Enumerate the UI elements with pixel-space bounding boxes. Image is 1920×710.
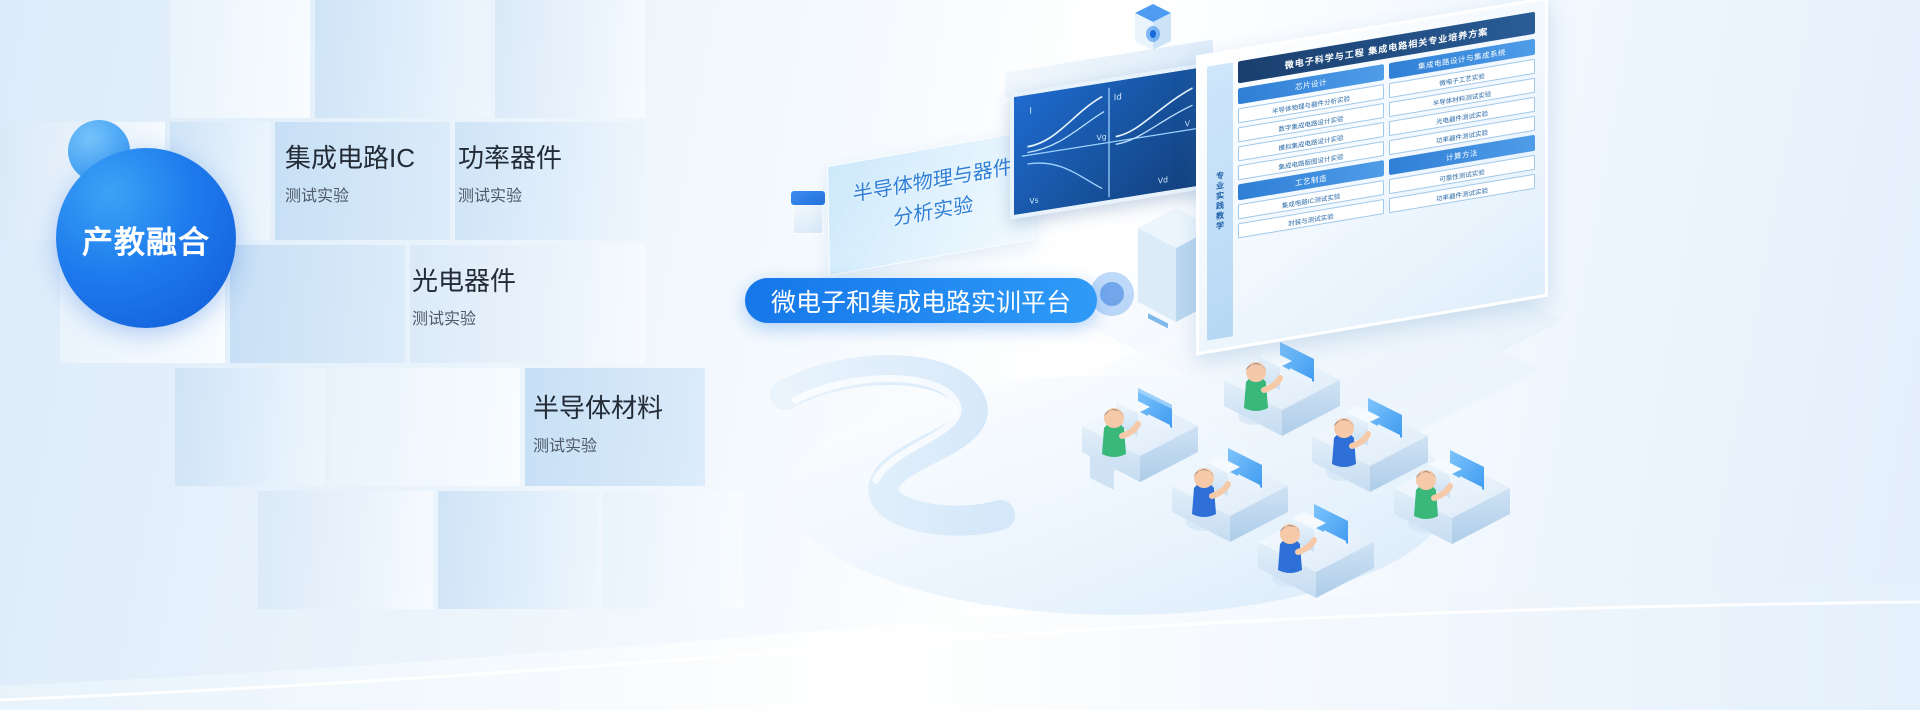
svg-text:Vs: Vs xyxy=(1029,196,1038,206)
platform-cta-label: 微电子和集成电路实训平台 xyxy=(771,283,1071,319)
course-item-optoelectronic[interactable]: 光电器件 测试实验 xyxy=(412,265,516,329)
decor-tile xyxy=(330,368,520,486)
svg-text:Vd: Vd xyxy=(1158,175,1168,186)
course-title: 光电器件 xyxy=(412,265,516,298)
badge-label: 产教融合 xyxy=(82,217,210,262)
svg-text:V: V xyxy=(1185,119,1191,129)
banner-stage: 产教融合 集成电路IC 测试实验 功率器件 测试实验 光电器件 测试实验 半导体… xyxy=(0,0,1920,710)
ceiling-sensor-cube-icon xyxy=(1133,2,1173,58)
decor-tile xyxy=(230,245,405,363)
course-subtitle: 测试实验 xyxy=(458,182,562,206)
industry-education-badge[interactable]: 产教融合 xyxy=(56,148,236,328)
curriculum-board: 专业实践教学 微电子科学与工程 集成电路相关专业培养方案 芯片设计 半导体物理与… xyxy=(1196,0,1548,355)
board-columns: 芯片设计 半导体物理与器件分析实验 数字集成电路设计实验 模拟集成电路设计实验 … xyxy=(1238,39,1535,336)
course-title: 功率器件 xyxy=(458,142,562,175)
course-subtitle: 测试实验 xyxy=(412,305,516,329)
decor-tile xyxy=(315,0,490,118)
platform-cta-button[interactable]: 微电子和集成电路实训平台 xyxy=(745,278,1097,323)
decor-tile xyxy=(175,368,325,486)
course-title: 半导体材料 xyxy=(533,392,663,425)
course-item-semiconductor-material[interactable]: 半导体材料 测试实验 xyxy=(533,392,663,456)
svg-text:Vg: Vg xyxy=(1097,132,1107,143)
decor-tile xyxy=(170,0,310,118)
workstation xyxy=(1172,448,1288,542)
course-subtitle: 测试实验 xyxy=(285,182,415,206)
svg-text:I: I xyxy=(1029,106,1032,116)
board-sidebar: 专业实践教学 xyxy=(1207,62,1233,340)
board-column-ic-design: 集成电路设计与集成系统 微电子工艺实验 半导体材料测试实验 光电器件测试实验 功… xyxy=(1389,39,1535,310)
glass-panel-stand xyxy=(793,200,823,234)
course-title: 集成电路IC xyxy=(285,142,415,175)
svg-text:Id: Id xyxy=(1114,92,1122,103)
course-subtitle: 测试实验 xyxy=(533,432,663,456)
course-item-ic[interactable]: 集成电路IC 测试实验 xyxy=(285,142,415,206)
board-column-chip-design: 芯片设计 半导体物理与器件分析实验 数字集成电路设计实验 模拟集成电路设计实验 … xyxy=(1238,64,1384,335)
glass-panel-stand-top xyxy=(791,191,825,205)
decor-tile xyxy=(495,0,645,118)
board-main: 微电子科学与工程 集成电路相关专业培养方案 芯片设计 半导体物理与器件分析实验 … xyxy=(1238,12,1535,336)
board-sidebar-label: 专业实践教学 xyxy=(1215,171,1226,233)
course-item-power-device[interactable]: 功率器件 测试实验 xyxy=(458,142,562,206)
